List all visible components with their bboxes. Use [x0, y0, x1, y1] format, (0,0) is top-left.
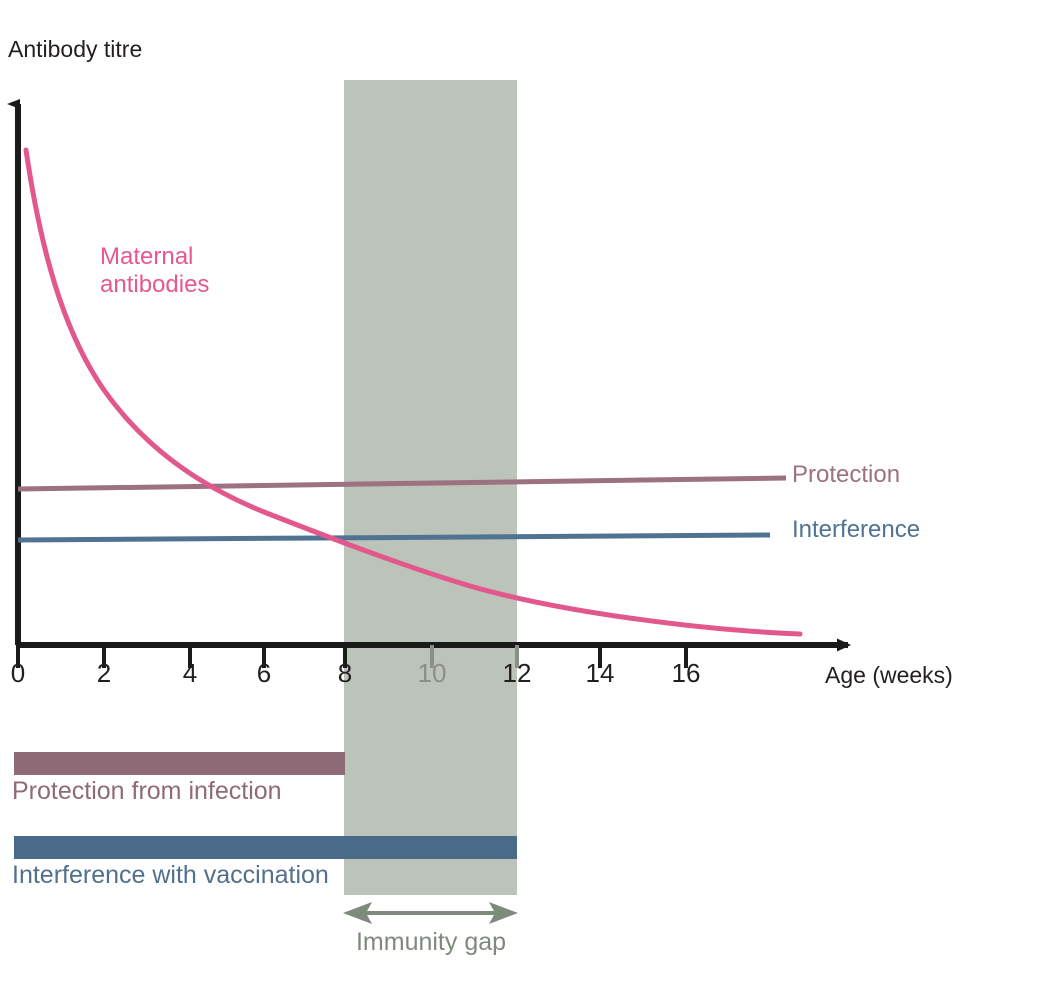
x-axis-title: Age (weeks): [825, 662, 953, 689]
x-tick-label-14: 14: [578, 658, 622, 689]
interference-threshold-line: [18, 535, 770, 540]
protection-legend-label: Protection: [792, 461, 900, 489]
timeline-bar-protection: [14, 752, 345, 775]
protection-bar-label: Protection from infection: [12, 777, 282, 807]
timeline-bar-interference: [14, 836, 517, 859]
maternal-antibodies-label-line1: Maternal: [100, 243, 193, 270]
antibody-titre-figure: Antibody titre Age (weeks) 0 2 4 6 8 10 …: [0, 0, 1046, 982]
y-axis-title: Antibody titre: [8, 36, 142, 63]
x-tick-label-12: 12: [495, 658, 539, 689]
chart-canvas: [0, 0, 1046, 982]
x-tick-label-4: 4: [168, 658, 212, 689]
maternal-antibodies-label: Maternalantibodies: [100, 243, 209, 300]
immunity-gap-label: Immunity gap: [345, 928, 517, 958]
immunity-gap-band: [344, 80, 517, 895]
maternal-antibodies-label-line2: antibodies: [100, 271, 209, 298]
x-tick-label-6: 6: [242, 658, 286, 689]
interference-legend-label: Interference: [792, 516, 920, 544]
x-tick-label-16: 16: [664, 658, 708, 689]
x-tick-label-10: 10: [410, 658, 454, 689]
x-tick-label-0: 0: [0, 658, 40, 689]
immunity-gap-arrow: [343, 902, 518, 924]
x-tick-label-8: 8: [323, 658, 367, 689]
interference-bar-label: Interference with vaccination: [12, 861, 329, 891]
x-tick-label-2: 2: [82, 658, 126, 689]
